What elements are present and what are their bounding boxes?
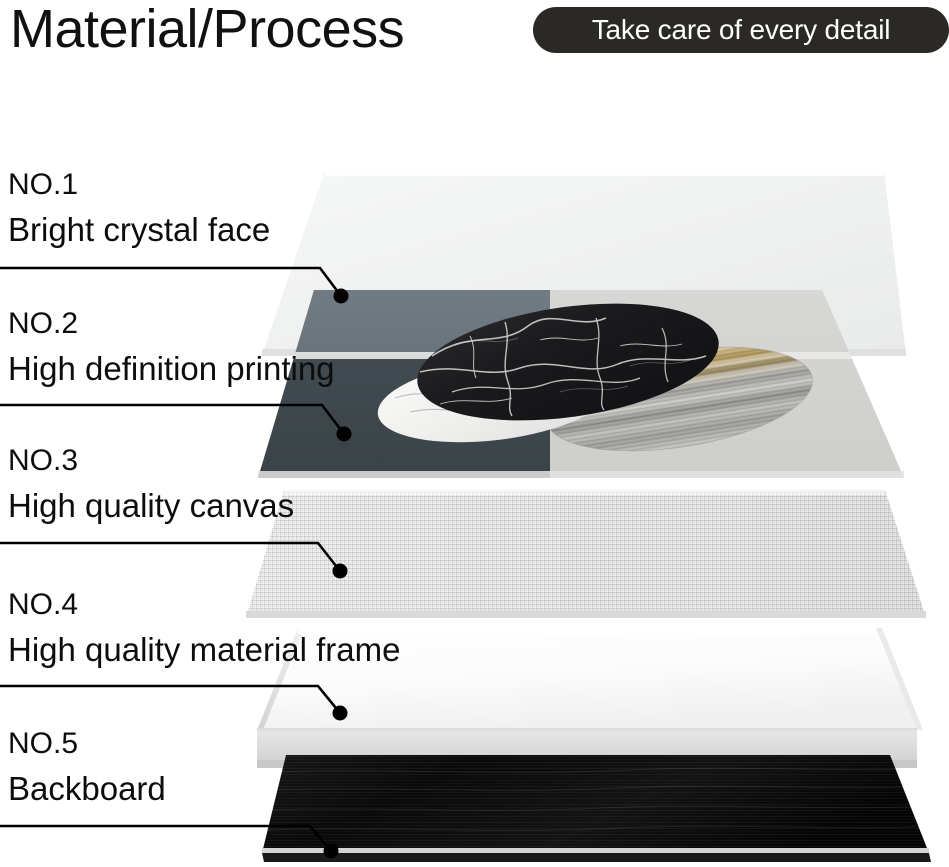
callout-3-leader bbox=[0, 444, 360, 594]
callout-5-leader bbox=[0, 727, 360, 867]
callout-1-leader bbox=[0, 168, 360, 318]
infographic-page: Material/Process Take care of every deta… bbox=[0, 0, 949, 867]
callout-4-leader bbox=[0, 588, 360, 738]
callout-1-dot bbox=[334, 289, 349, 304]
callout-4-dot bbox=[333, 706, 348, 721]
callout-2-dot bbox=[337, 427, 352, 442]
callout-2-leader bbox=[0, 307, 360, 457]
callout-3-dot bbox=[333, 564, 348, 579]
callout-5-dot bbox=[324, 844, 339, 859]
exploded-product-diagram: NO.1 Bright crystal face NO.2 High defin… bbox=[0, 0, 949, 867]
